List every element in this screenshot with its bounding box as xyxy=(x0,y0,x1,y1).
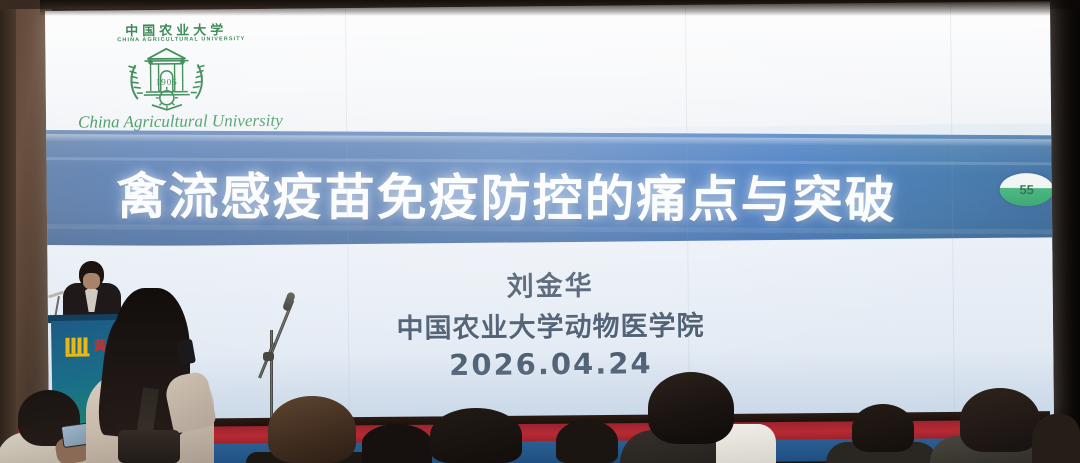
conference-photo-scene: 中国农业大学 CHINA AGRICULTURAL UNIVERSITY xyxy=(0,0,1080,463)
podium-logo-icon xyxy=(65,337,89,356)
left-wall-shadow xyxy=(0,0,16,463)
audience-member-head xyxy=(648,372,734,444)
logo-english-name: CHINA AGRICULTURAL UNIVERSITY xyxy=(117,36,245,43)
slide-title-text: 禽流感疫苗免疫防控的痛点与突破 xyxy=(116,156,896,232)
university-logo: 中国农业大学 CHINA AGRICULTURAL UNIVERSITY xyxy=(75,17,286,131)
audience-member-head xyxy=(960,388,1040,452)
presenter-name: 刘金华 xyxy=(47,259,1052,308)
speaker-face xyxy=(83,273,100,289)
green-circle-badge: 55 xyxy=(1000,173,1054,206)
audience-member-head xyxy=(852,404,914,452)
seal-year-text: 1905 xyxy=(156,77,178,87)
audience-member-head xyxy=(362,424,432,463)
ceiling-shadow xyxy=(40,0,1050,16)
slide-title-band: 禽流感疫苗免疫防控的痛点与突破 55 xyxy=(45,130,1054,250)
audience-member-head xyxy=(556,420,618,463)
university-seal-icon: 1905 xyxy=(123,44,210,111)
slide-header: 中国农业大学 CHINA AGRICULTURAL UNIVERSITY xyxy=(45,1,1051,133)
projection-screen: 中国农业大学 CHINA AGRICULTURAL UNIVERSITY xyxy=(45,1,1054,428)
presenter-affiliation: 中国农业大学动物医学院 xyxy=(48,300,1053,349)
audience-member-head xyxy=(1032,414,1080,463)
audience-member-head xyxy=(430,408,522,463)
photographer-bag xyxy=(118,430,180,463)
audience-member-head xyxy=(268,396,356,463)
mic-boom-clamp xyxy=(263,352,274,361)
